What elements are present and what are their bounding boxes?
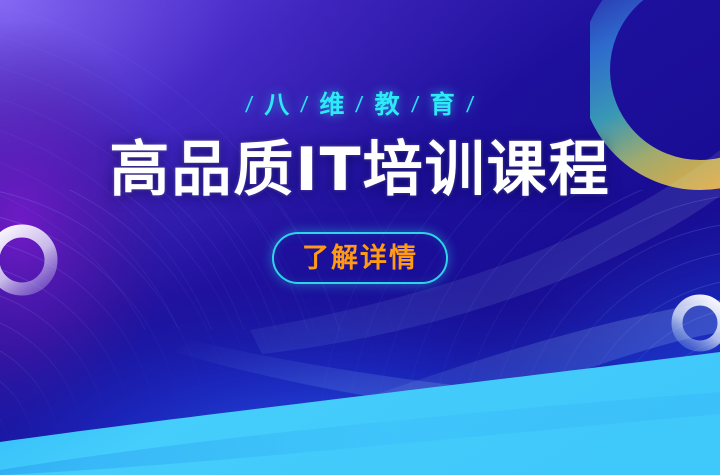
banner-content: / 八 / 维 / 教 / 育 / 高品质IT培训课程 了解详情 [0, 0, 720, 475]
subtitle-char-0: 八 [262, 92, 292, 117]
subtitle-separator-1: / [291, 94, 319, 116]
subtitle-char-1: 维 [317, 92, 347, 117]
promo-banner: / 八 / 维 / 教 / 育 / 高品质IT培训课程 了解详情 [0, 0, 720, 475]
learn-more-button-label: 了解详情 [302, 245, 418, 272]
learn-more-button[interactable]: 了解详情 [272, 232, 448, 284]
subtitle-separator-0: / [236, 94, 264, 116]
banner-subtitle: / 八 / 维 / 教 / 育 / [237, 92, 483, 117]
subtitle-char-2: 教 [373, 92, 403, 117]
page-title: 高品质IT培训课程 [109, 140, 610, 200]
subtitle-separator-4: / [456, 94, 484, 116]
subtitle-separator-3: / [401, 94, 429, 116]
subtitle-char-3: 育 [428, 92, 458, 117]
subtitle-separator-2: / [346, 94, 374, 116]
